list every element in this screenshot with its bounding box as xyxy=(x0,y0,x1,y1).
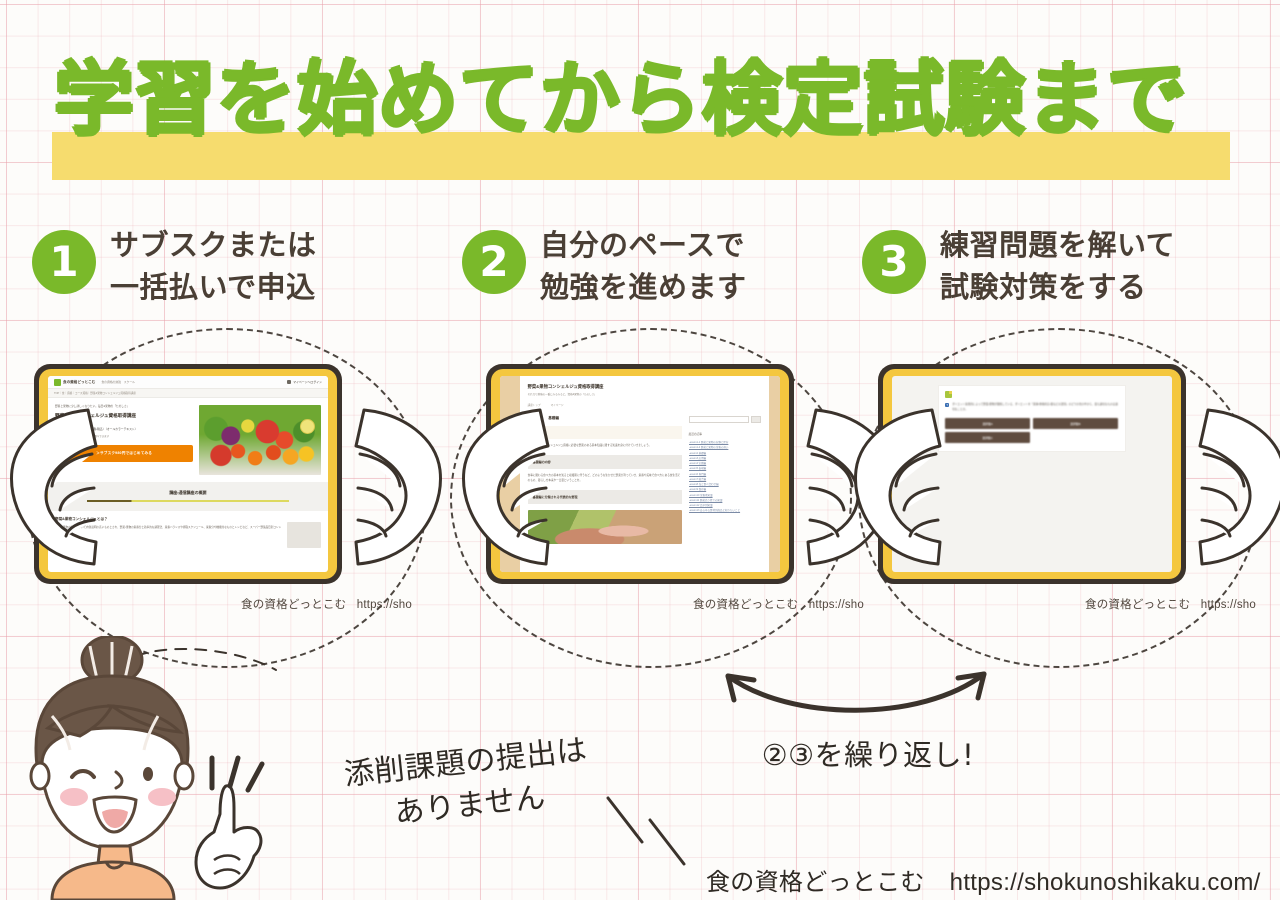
footer-brand: 食の資格どっとこむ xyxy=(706,869,925,896)
site-logo-text: 食の資格どっとこむ xyxy=(63,380,95,385)
step-3-number-badge: 3 xyxy=(862,230,926,294)
hero-image-column xyxy=(199,405,321,475)
step-column-1: 1 サブスクまたは 一括払いで申込 食の資格どっとこむ 食の資格の勉強 スクール xyxy=(22,224,432,644)
lesson-nav: 講座トップ マイページ xyxy=(528,403,761,407)
lesson-gray-heading-1: 基礎編の内容 xyxy=(528,455,682,469)
search-input[interactable] xyxy=(689,416,749,423)
lesson-gray-heading-2: 基礎編に分類される代表的な野菜 xyxy=(528,490,682,504)
step-2-tablet-illustration: 野菜&果物コンシェルジュ資格取得講座 それなり勉強の一番にみるみると、資格&果物… xyxy=(452,364,862,594)
lesson-sidebar: 最近の記事 Lesson1-1 野菜と果物の分類と区分 Lesson1-2 野菜… xyxy=(689,416,761,544)
repeat-loop-label: ②③を繰り返し! xyxy=(708,732,1028,774)
subscribe-cta-button[interactable]: ＞サブスク980円ではじめてみる xyxy=(55,445,193,462)
lesson-page-content: 野菜&果物コンシェルジュ資格取得講座 それなり勉強の一番にみるみると、資格&果物… xyxy=(520,376,769,544)
step-1-credit-brand: 食の資格どっとこむ xyxy=(241,599,346,611)
lesson-page-paper: 野菜&果物コンシェルジュ資格取得講座 それなり勉強の一番にみるみると、資格&果物… xyxy=(520,376,769,572)
quiz-question-row: ? ダイエット効果的によって野菜・果物が関係している、ダイエットを「栄養・体格対… xyxy=(945,403,1119,412)
lesson-page-background: 野菜&果物コンシェルジュ資格取得講座 それなり勉強の一番にみるみると、資格&果物… xyxy=(500,376,780,572)
step-1-header: 1 サブスクまたは 一括払いで申込 xyxy=(22,224,432,324)
lesson-paragraph-2: 食事に関わる食べ方の基本を知ると収穫期に伴うなど、どのような生かせた野菜が育って… xyxy=(528,474,682,484)
price-unit: 円（税・税込）（オールカラーテキスト） xyxy=(88,427,138,431)
course-description-paragraph: 野菜や果物の効果について内容説明の高いものとされ、野菜・果物の栄養分と効率的な調… xyxy=(55,526,282,535)
logo-square-icon xyxy=(54,379,61,386)
body-icon xyxy=(52,846,174,900)
sales-page-body: 野菜と果物に少し詳しくなりたい。毎日&果物の「たのしさ」 野菜&果物コンシェルジ… xyxy=(48,398,328,479)
tablet-device-1: 食の資格どっとこむ 食の資格の勉強 スクール マイページへログイン TOP｜食｜… xyxy=(34,364,342,584)
step-2-credit-brand: 食の資格どっとこむ xyxy=(693,599,798,611)
tablet-screen-2: 野菜&果物コンシェルジュ資格取得講座 それなり勉強の一番にみるみると、資格&果物… xyxy=(500,376,780,572)
step-3-credit-url: https://sho xyxy=(1201,599,1256,611)
tablet-bezel-3: ? ダイエット効果的によって野菜・果物が関係している、ダイエットを「栄養・体格対… xyxy=(883,369,1181,579)
step-1-credit-url: https://sho xyxy=(357,599,412,611)
note-emphasis-strokes-icon xyxy=(600,790,690,880)
page-title-block: 学習を始めてから検定試験まで xyxy=(52,44,1230,174)
tablet-device-3: ? ダイエット効果的によって野菜・果物が関係している、ダイエットを「栄養・体格対… xyxy=(878,364,1186,584)
course-description-thumbnail xyxy=(287,522,321,548)
step-2-credit: 食の資格どっとこむ https://sho xyxy=(524,596,864,612)
lesson-site-subtitle: それなり勉強の一番にみるみると、資格&果物の「たのしさ」 xyxy=(528,393,761,397)
course-overview-section: 講座・通信講座の概要 xyxy=(48,482,328,511)
course-description-row: 野菜や果物の効果について内容説明の高いものとされ、野菜・果物の栄養分と効率的な調… xyxy=(55,522,321,548)
sales-copy-column: 野菜と果物に少し詳しくなりたい。毎日&果物の「たのしさ」 野菜&果物コンシェルジ… xyxy=(55,405,193,475)
sidebar-search[interactable] xyxy=(689,416,761,423)
double-headed-curved-arrow-icon xyxy=(700,660,1030,730)
quiz-question-text: ダイエット効果的によって野菜・果物が関係している、ダイエットを「栄養・体格対応・… xyxy=(952,403,1119,412)
user-icon xyxy=(287,380,291,384)
step-2-label-line1: 自分のペースで xyxy=(540,228,745,262)
step-3-tablet-illustration: ? ダイエット効果的によって野菜・果物が関係している、ダイエットを「栄養・体格対… xyxy=(852,364,1262,594)
step-2-header: 2 自分のペースで 勉強を進めます xyxy=(452,224,862,324)
step-2-label-line2: 勉強を進めます xyxy=(540,266,747,308)
search-button[interactable] xyxy=(751,416,761,423)
infographic-canvas: 学習を始めてから検定試験まで 1 サブスクまたは 一括払いで申込 食の資格どっと… xyxy=(0,0,1280,900)
login-button[interactable]: マイページへログイン xyxy=(287,380,322,384)
quiz-answer-button[interactable]: 選択肢B xyxy=(1033,418,1118,429)
quiz-answer-button[interactable]: 選択肢C xyxy=(945,432,1030,443)
tablet-screen-3: ? ダイエット効果的によって野菜・果物が関係している、ダイエットを「栄養・体格対… xyxy=(892,376,1172,572)
breadcrumb: TOP｜食｜資格｜コース資格｜野菜&果物コンシェルジュ資格取得講座 xyxy=(48,389,328,398)
pointing-hand-icon xyxy=(196,786,261,888)
step-1-label-line1: サブスクまたは xyxy=(110,228,317,262)
step-1-label-line2: 一括払いで申込 xyxy=(110,266,317,308)
lesson-number: Lesson1 xyxy=(528,416,543,421)
repeat-loop: ②③を繰り返し! xyxy=(700,660,1030,790)
lesson-site-title: 野菜&果物コンシェルジュ資格取得講座 xyxy=(528,384,761,390)
footer-credit: 食の資格どっとこむ https://shokunoshikaku.com/ xyxy=(706,862,1261,897)
site-logo-icon xyxy=(945,391,952,398)
course-overview-title: 講座・通信講座の概要 xyxy=(48,490,328,496)
quiz-answer-list: 選択肢A 選択肢B 選択肢C xyxy=(945,418,1119,443)
site-nav-text: 食の資格の勉強 スクール xyxy=(101,380,135,384)
price-note: サブスク・分割制の一括払・一括払も選べできます xyxy=(55,435,193,439)
quiz-page: ? ダイエット効果的によって野菜・果物が関係している、ダイエットを「栄養・体格対… xyxy=(892,376,1172,572)
lesson-name: 基礎編 xyxy=(548,416,559,421)
question-mark-icon: ? xyxy=(945,403,949,407)
sidebar-heading: 最近の記事 xyxy=(689,432,761,436)
step-column-2: 2 自分のペースで 勉強を進めます 野菜&果物コンシェルジュ資格取得講座 それな… xyxy=(452,224,862,644)
no-assignment-note: 添削課題の提出は ありません xyxy=(314,727,621,843)
course-title: 野菜&果物コンシェルジュ資格取得講座 xyxy=(55,413,193,419)
sales-kicker: 野菜と果物に少し詳しくなりたい。毎日&果物の「たのしさ」 xyxy=(55,405,193,409)
site-logo: 食の資格どっとこむ 食の資格の勉強 スクール xyxy=(54,379,135,386)
lesson-columns: Lesson1 基礎編 基礎編 Lesson1では「コンシェルジュ資格に必要な野… xyxy=(528,416,761,544)
step-1-number-badge: 1 xyxy=(32,230,96,294)
course-description-block: 野菜&果物コンシェルジュとは？ 野菜や果物の効果について内容説明の高いものとされ… xyxy=(48,511,328,548)
vegetables-fruits-photo xyxy=(199,405,321,475)
lesson-section-bar: 基礎編 xyxy=(528,426,682,439)
step-3-header: 3 練習問題を解いて 試験対策をする xyxy=(852,224,1262,324)
list-item[interactable]: Lesson13 あらゆる食材別商品と知りたいこと xyxy=(689,508,761,513)
sidebar-link-list: Lesson1-1 野菜と果物の分類と区分 Lesson1-2 野菜と果物の栄養… xyxy=(689,440,761,514)
page-title: 学習を始めてから検定試験まで xyxy=(54,44,1188,156)
quiz-card: ? ダイエット効果的によって野菜・果物が関係している、ダイエットを「栄養・体格対… xyxy=(938,385,1126,452)
lesson-main-column: Lesson1 基礎編 基礎編 Lesson1では「コンシェルジュ資格に必要な野… xyxy=(528,416,682,544)
site-topbar: 食の資格どっとこむ 食の資格の勉強 スクール マイページへログイン xyxy=(48,376,328,389)
character-illustration xyxy=(8,636,278,900)
step-2-label: 自分のペースで 勉強を進めます xyxy=(540,224,747,308)
lesson-heading: Lesson1 基礎編 xyxy=(528,416,682,421)
right-hand-illustration-3 xyxy=(1198,392,1280,567)
price-amount: 3,980 xyxy=(70,425,86,432)
step-1-credit: 食の資格どっとこむ https://sho xyxy=(72,596,412,612)
tablet-bezel-1: 食の資格どっとこむ 食の資格の勉強 スクール マイページへログイン TOP｜食｜… xyxy=(39,369,337,579)
lesson-food-photo xyxy=(528,510,682,544)
lesson-nav-item-2[interactable]: マイページ xyxy=(551,403,564,407)
tablet-device-2: 野菜&果物コンシェルジュ資格取得講座 それなり勉強の一番にみるみると、資格&果物… xyxy=(486,364,794,584)
step-3-credit-brand: 食の資格どっとこむ xyxy=(1085,599,1190,611)
emphasis-strokes-icon xyxy=(212,758,262,790)
tablet-bezel-2: 野菜&果物コンシェルジュ資格取得講座 それなり勉強の一番にみるみると、資格&果物… xyxy=(491,369,789,579)
step-2-number-badge: 2 xyxy=(462,230,526,294)
step-1-label: サブスクまたは 一括払いで申込 xyxy=(110,224,317,308)
lesson-paragraph-1: Lesson1では「コンシェルジュ資格に必要な野菜のある基本知識に関する知識を身… xyxy=(528,444,682,449)
lesson-nav-item-1[interactable]: 講座トップ xyxy=(528,403,541,407)
photo-badge-icon xyxy=(300,419,315,434)
right-hand-illustration-1 xyxy=(354,392,444,567)
step-3-label-line1: 練習問題を解いて xyxy=(940,228,1175,262)
step-1-tablet-illustration: 食の資格どっとこむ 食の資格の勉強 スクール マイページへログイン TOP｜食｜… xyxy=(22,364,432,594)
step-3-credit: 食の資格どっとこむ https://sho xyxy=(916,596,1256,612)
step-3-label-line2: 試験対策をする xyxy=(940,266,1175,308)
login-label: マイページへログイン xyxy=(293,380,322,384)
quiz-answer-button[interactable]: 選択肢A xyxy=(945,418,1030,429)
footer-url: https://shokunoshikaku.com/ xyxy=(950,869,1261,896)
section-underline xyxy=(87,500,289,502)
price-strikethrough: 通常価格 xyxy=(55,426,68,431)
step-column-3: 3 練習問題を解いて 試験対策をする ? ダイエット効果 xyxy=(852,224,1262,644)
tablet-screen-1: 食の資格どっとこむ 食の資格の勉強 スクール マイページへログイン TOP｜食｜… xyxy=(48,376,328,572)
step-3-label: 練習問題を解いて 試験対策をする xyxy=(940,224,1175,308)
price-row: 通常価格 3,980 円（税・税込）（オールカラーテキスト） xyxy=(55,425,193,432)
